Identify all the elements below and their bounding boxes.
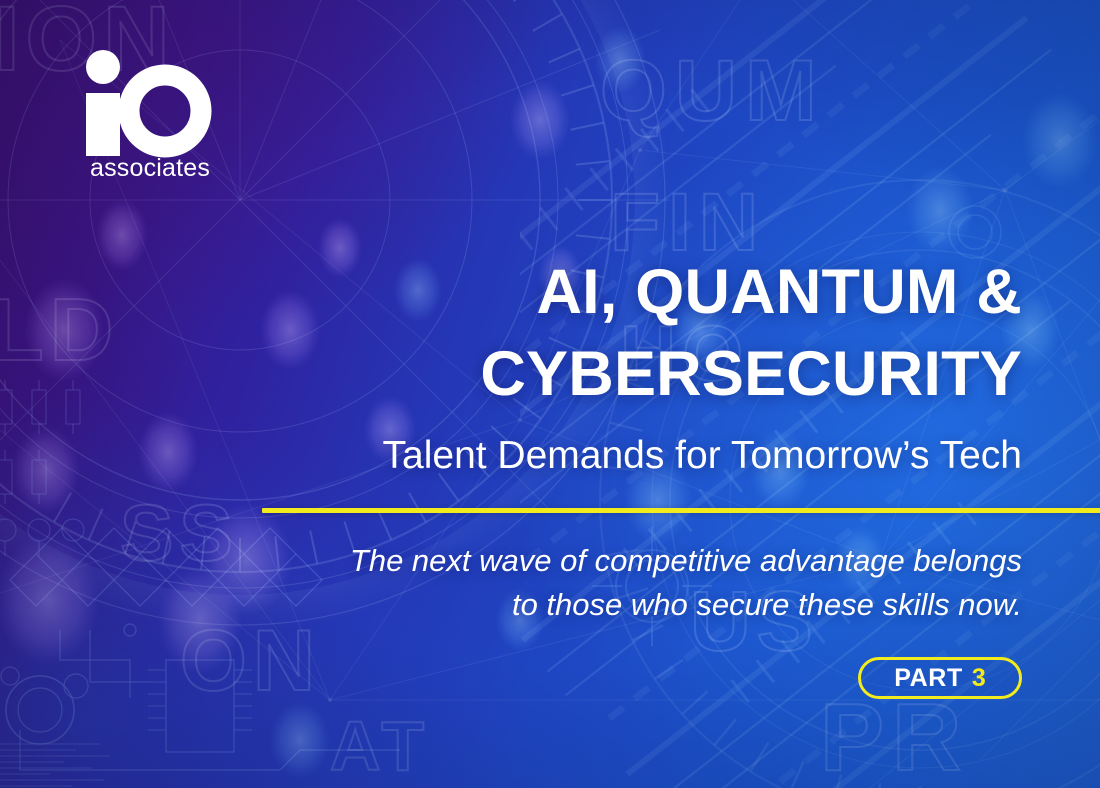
page-title: AI, QUANTUM & CYBERSECURITY bbox=[262, 252, 1022, 416]
logo-wordmark: associates bbox=[90, 154, 210, 180]
logo-i-dot bbox=[86, 50, 120, 84]
page-subtitle: Talent Demands for Tomorrow’s Tech bbox=[262, 433, 1022, 479]
tagline-line-1: The next wave of competitive advantage b… bbox=[262, 539, 1022, 584]
part-badge-number: 3 bbox=[972, 664, 986, 693]
slide-canvas: ION QUM FIN HO LD SS ON US PR AT bbox=[0, 0, 1100, 788]
io-associates-logo[interactable]: associates bbox=[80, 50, 215, 180]
page-title-line-1: AI, QUANTUM & bbox=[262, 252, 1022, 334]
hero-copy-block: AI, QUANTUM & CYBERSECURITY Talent Deman… bbox=[262, 252, 1022, 699]
page-title-line-2: CYBERSECURITY bbox=[262, 334, 1022, 416]
part-badge[interactable]: PART 3 bbox=[858, 657, 1022, 699]
tagline-line-2: to those who secure these skills now. bbox=[262, 583, 1022, 628]
badge-row: PART 3 bbox=[262, 657, 1022, 699]
accent-divider bbox=[262, 508, 1100, 513]
logo-i-stem bbox=[86, 93, 120, 156]
part-badge-label: PART bbox=[894, 664, 963, 693]
logo-o-ring bbox=[129, 75, 201, 147]
tagline: The next wave of competitive advantage b… bbox=[262, 539, 1022, 628]
